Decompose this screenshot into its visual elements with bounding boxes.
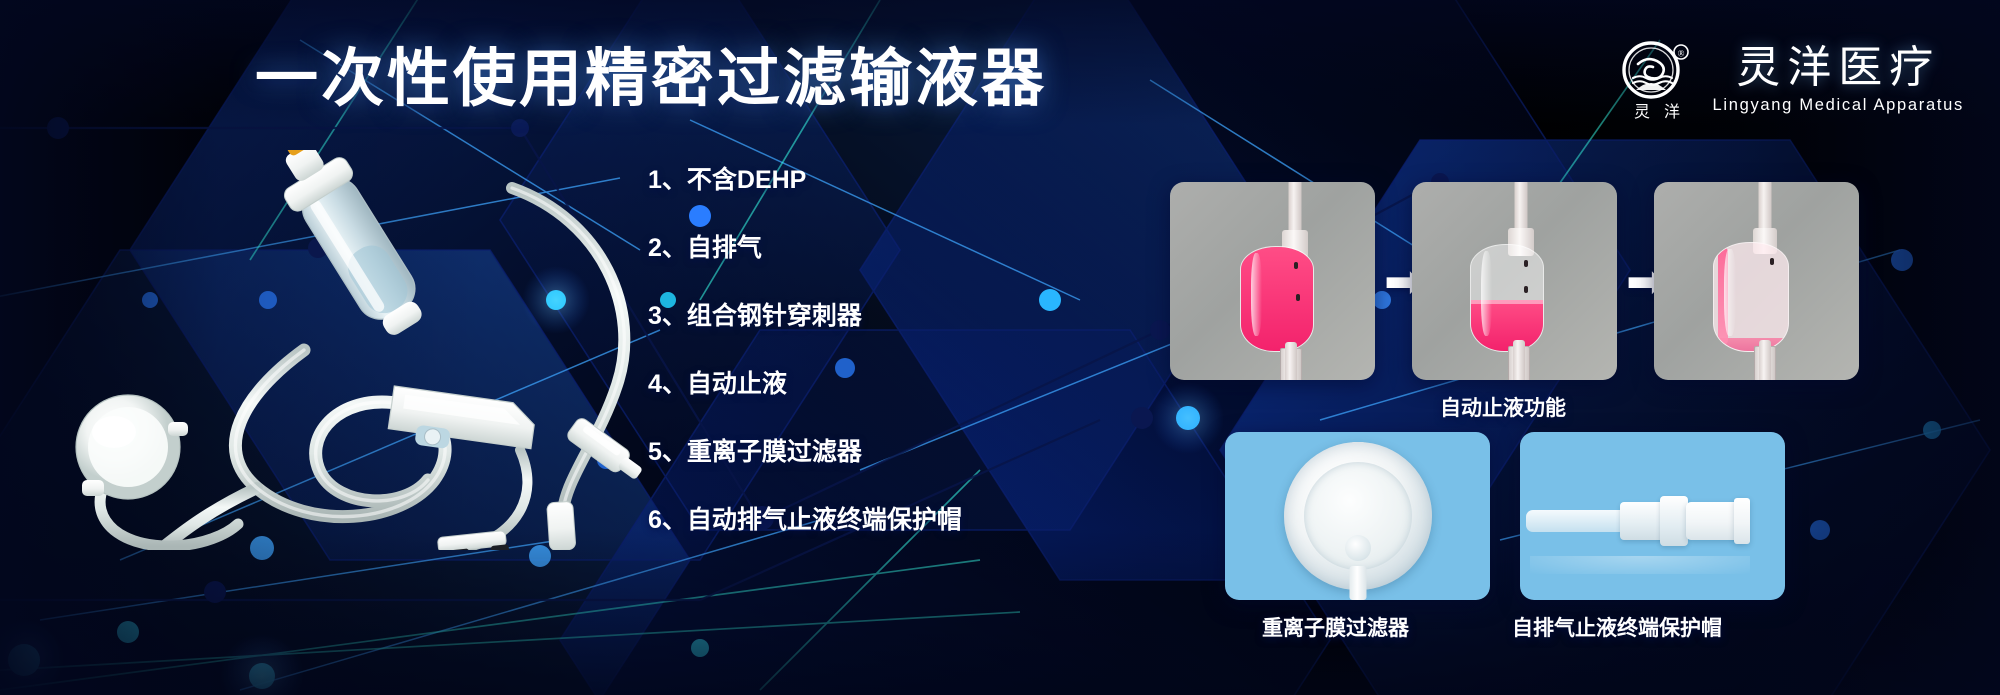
feature-list: 1、不含DEHP 2、自排气 3、组合钢针穿刺器 4、自动止液 5、重离子膜过滤… bbox=[648, 168, 978, 533]
detail-caption-cap: 自排气止液终端保护帽 bbox=[1512, 612, 1722, 642]
list-item: 3、组合钢针穿刺器 bbox=[648, 304, 978, 329]
sequence-caption: 自动止液功能 bbox=[1440, 392, 1566, 422]
list-item: 1、不含DEHP bbox=[648, 168, 978, 193]
product-banner: 一次性使用精密过滤输液器 ® 灵 洋 灵洋医疗 Lingyang Medical… bbox=[0, 0, 2000, 695]
list-item: 6、自动排气止液终端保护帽 bbox=[648, 508, 978, 533]
detail-card-cap bbox=[1520, 432, 1785, 600]
sequence-frame-2 bbox=[1412, 182, 1617, 380]
brand-name-en: Lingyang Medical Apparatus bbox=[1712, 96, 1964, 115]
sequence-frame-1 bbox=[1170, 182, 1375, 380]
list-item: 4、自动止液 bbox=[648, 372, 978, 397]
lingyang-circular-emblem-icon: ® 灵 洋 bbox=[1618, 38, 1694, 122]
page-title: 一次性使用精密过滤输液器 bbox=[255, 48, 1047, 111]
registered-mark: ® bbox=[1678, 48, 1685, 58]
emblem-caption-right: 洋 bbox=[1664, 103, 1680, 121]
emblem-caption-left: 灵 bbox=[1634, 103, 1650, 121]
brand-text-block: 灵洋医疗 Lingyang Medical Apparatus bbox=[1712, 45, 1964, 115]
product-photo bbox=[42, 150, 662, 550]
brand-name-cn: 灵洋医疗 bbox=[1736, 45, 1940, 91]
sequence-frame-3 bbox=[1654, 182, 1859, 380]
list-item: 2、自排气 bbox=[648, 236, 978, 261]
list-item: 5、重离子膜过滤器 bbox=[648, 440, 978, 465]
detail-caption-filter: 重离子膜过滤器 bbox=[1262, 612, 1409, 642]
brand-lockup: ® 灵 洋 灵洋医疗 Lingyang Medical Apparatus bbox=[1618, 38, 1964, 122]
detail-card-filter bbox=[1225, 432, 1490, 600]
